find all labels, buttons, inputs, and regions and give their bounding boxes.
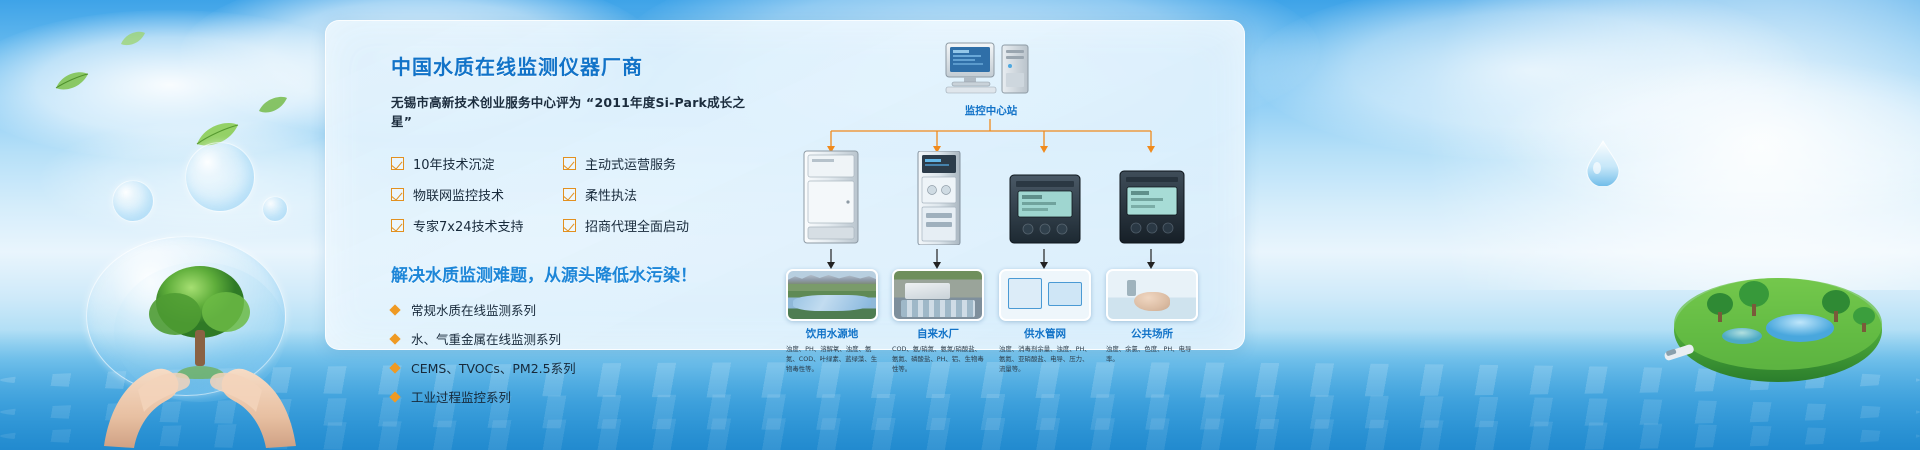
product-line-label: CEMS、TVOCs、PM2.5系列 (411, 358, 576, 377)
checkbox-checked-icon (391, 219, 404, 232)
scenario-caption: 自来水厂 (892, 326, 984, 341)
list-item: 工业过程监控系列 (391, 387, 751, 406)
list-item: CEMS、TVOCs、PM2.5系列 (391, 358, 751, 377)
connector-lines (786, 119, 1216, 153)
online-controller-icon (1008, 173, 1082, 249)
product-line-list: 常规水质在线监测系列 水、气重金属在线监测系列 CEMS、TVOCs、PM2.5… (391, 300, 751, 406)
checkbox-checked-icon (563, 188, 576, 201)
scenario-card[interactable]: 自来水厂 COD、氨/硝氮、氨氮/硝酸盐、氨氮、磷酸盐、PH、铝、生物毒性等。 (892, 269, 984, 375)
leaf-icon (120, 30, 146, 51)
list-item: 水、气重金属在线监测系列 (391, 329, 751, 348)
scenario-description: 浊度、消毒剂余量、浊度、PH、氨氮、亚硝酸盐、电导、压力、流量等。 (999, 345, 1091, 375)
scenario-caption: 供水管网 (999, 326, 1091, 341)
promo-panel: 中国水质在线监测仪器厂商 无锡市高新技术创业服务中心评为 “2011年度Si-P… (325, 20, 1245, 350)
feature-label: 柔性执法 (585, 185, 637, 204)
system-topology-diagram: 监控中心站 (786, 35, 1216, 345)
checkbox-checked-icon (391, 157, 404, 170)
application-scenarios: 饮用水源地 浊度、PH、溶解氧、浊度、氨氮、COD、叶绿素、蓝绿藻、生物毒性等。… (786, 269, 1216, 349)
checkbox-checked-icon (563, 219, 576, 232)
green-globe-illustration (1650, 232, 1895, 392)
feature-item: 10年技术沉淀 (391, 154, 563, 173)
feature-label: 招商代理全面启动 (585, 216, 689, 235)
scenario-photo-drinking-water-source (786, 269, 878, 321)
page-subtitle: 无锡市高新技术创业服务中心评为 “2011年度Si-Park成长之星” (391, 92, 751, 130)
feature-item: 招商代理全面启动 (563, 216, 751, 235)
product-line-label: 水、气重金属在线监测系列 (411, 329, 561, 348)
feature-item: 主动式运营服务 (563, 154, 751, 173)
checkbox-checked-icon (391, 188, 404, 201)
diamond-bullet-icon (389, 391, 400, 402)
product-line-label: 常规水质在线监测系列 (411, 300, 536, 319)
scenario-photo-public-place (1106, 269, 1198, 321)
feature-item: 物联网监控技术 (391, 185, 563, 204)
leaf-icon (55, 70, 89, 96)
hands-holding-tree-illustration (80, 220, 320, 450)
device-row (786, 149, 1216, 249)
scenario-card[interactable]: 供水管网 浊度、消毒剂余量、浊度、PH、氨氮、亚硝酸盐、电导、压力、流量等。 (999, 269, 1091, 375)
scenario-description: COD、氨/硝氮、氨氮/硝酸盐、氨氮、磷酸盐、PH、铝、生物毒性等。 (892, 345, 984, 375)
bubble-decoration (262, 196, 288, 222)
scenario-photo-water-plant (892, 269, 984, 321)
scenario-caption: 饮用水源地 (786, 326, 878, 341)
cloud-decoration (1250, 0, 1810, 160)
scenario-description: 浊度、余氯、色度、PH、电导率。 (1106, 345, 1198, 365)
feature-label: 物联网监控技术 (413, 185, 504, 204)
product-line-label: 工业过程监控系列 (411, 387, 511, 406)
text-column: 中国水质在线监测仪器厂商 无锡市高新技术创业服务中心评为 “2011年度Si-P… (391, 51, 751, 416)
page-title: 中国水质在线监测仪器厂商 (391, 51, 751, 80)
feature-item: 柔性执法 (563, 185, 751, 204)
feature-label: 10年技术沉淀 (413, 154, 495, 173)
feature-label: 主动式运营服务 (585, 154, 676, 173)
water-droplet-icon (1586, 140, 1620, 186)
list-item: 常规水质在线监测系列 (391, 300, 751, 319)
feature-item: 专家7x24技术支持 (391, 216, 563, 235)
center-node-label: 监控中心站 (896, 103, 1086, 118)
scenario-card[interactable]: 饮用水源地 浊度、PH、溶解氧、浊度、氨氮、COD、叶绿素、蓝绿藻、生物毒性等。 (786, 269, 878, 375)
feature-label: 专家7x24技术支持 (413, 216, 524, 235)
downward-arrows (786, 249, 1216, 271)
leaf-icon (258, 95, 288, 119)
rack-analyzer-icon (912, 151, 966, 249)
scenario-photo-pipe-network (999, 269, 1091, 321)
checkbox-checked-icon (563, 157, 576, 170)
feature-list: 10年技术沉淀 主动式运营服务 物联网监控技术 柔性执法 专家7x24技术支持 … (391, 154, 751, 235)
bubble-decoration (185, 142, 255, 212)
cloud-decoration (1500, 60, 1920, 220)
cloud-decoration (0, 10, 380, 160)
diamond-bullet-icon (389, 362, 400, 373)
scenario-card[interactable]: 公共场所 浊度、余氯、色度、PH、电导率。 (1106, 269, 1198, 365)
diamond-bullet-icon (389, 333, 400, 344)
scenario-caption: 公共场所 (1106, 326, 1198, 341)
online-controller-icon (1118, 169, 1186, 249)
water-analyzer-cabinet-icon (798, 149, 864, 249)
scenario-description: 浊度、PH、溶解氧、浊度、氨氮、COD、叶绿素、蓝绿藻、生物毒性等。 (786, 345, 878, 375)
diamond-bullet-icon (389, 304, 400, 315)
monitoring-center-computer-icon (944, 39, 1036, 101)
bubble-decoration (112, 180, 154, 222)
section-heading: 解决水质监测难题，从源头降低水污染！ (391, 261, 751, 286)
